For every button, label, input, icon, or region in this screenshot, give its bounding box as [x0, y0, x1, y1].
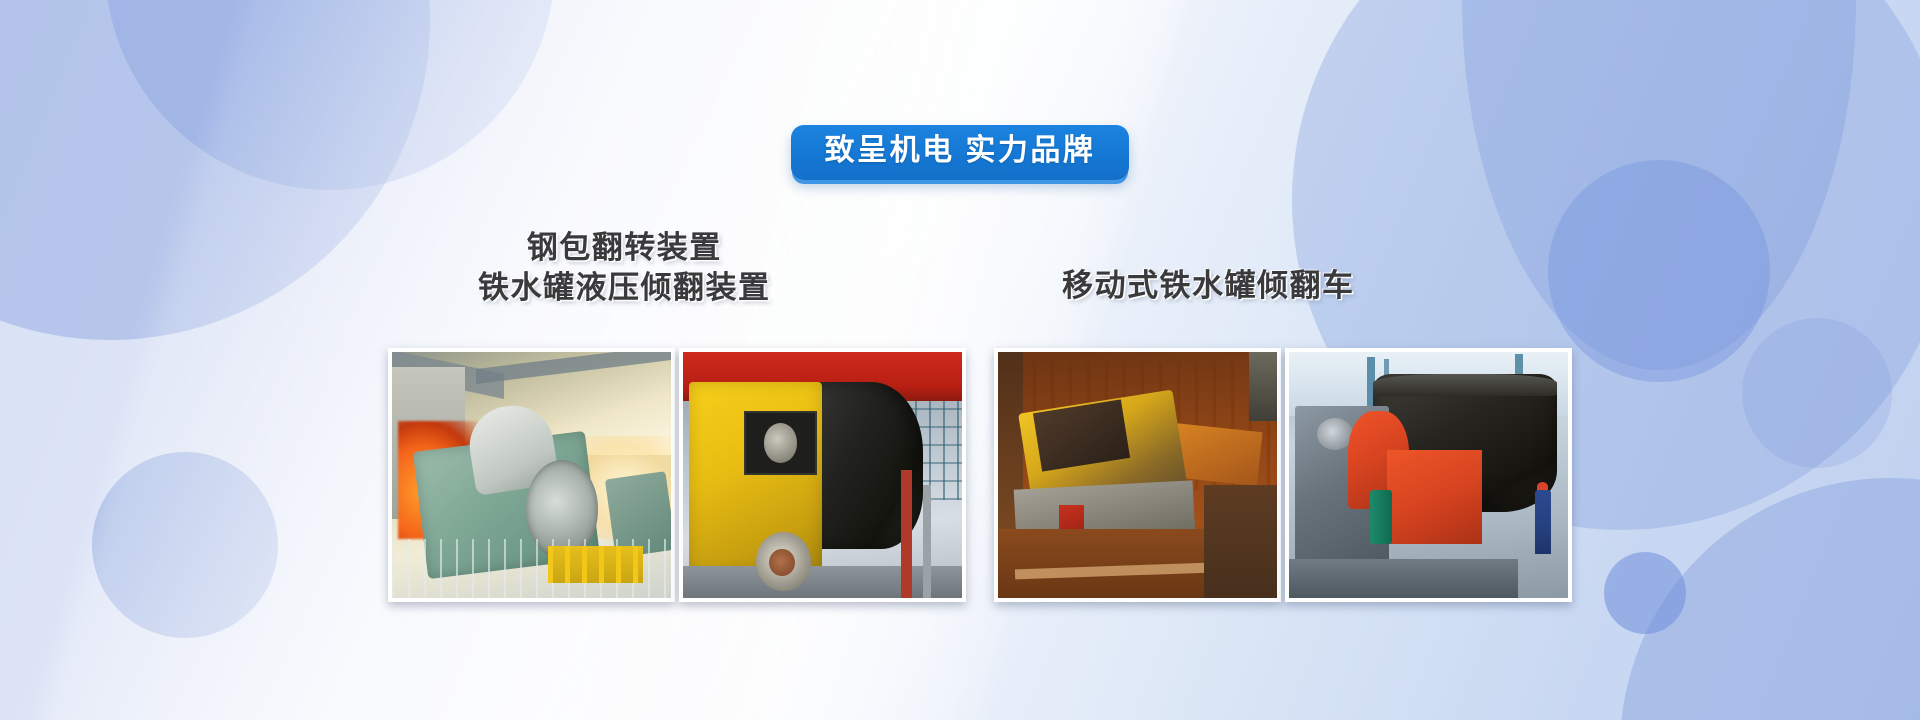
- decor-circle-left-solid: [92, 452, 278, 638]
- headline-left-line1: 钢包翻转装置: [478, 228, 771, 268]
- decor-ellipse-right-tall: [1462, 0, 1856, 370]
- product-photo-4[interactable]: [1285, 348, 1572, 602]
- headline-left-group: 钢包翻转装置 铁水罐液压倾翻装置: [478, 228, 771, 309]
- decor-circle-right-tiny: [1742, 318, 1892, 468]
- decor-circle-right-medium: [1548, 160, 1770, 382]
- hero-banner: 致呈机电 实力品牌 钢包翻转装置 铁水罐液压倾翻装置 移动式铁水罐倾翻车: [0, 0, 1920, 720]
- decor-circle-right-lower: [1620, 478, 1920, 720]
- product-photo-2-image: [683, 352, 962, 598]
- product-photo-2[interactable]: [679, 348, 966, 602]
- product-photo-1-image: [392, 352, 671, 598]
- brand-badge-label: 致呈机电 实力品牌: [825, 134, 1096, 167]
- photo-group-divider: [966, 348, 994, 602]
- headline-right-group: 移动式铁水罐倾翻车: [1062, 266, 1355, 306]
- product-photo-4-image: [1289, 352, 1568, 598]
- brand-badge: 致呈机电 实力品牌: [791, 125, 1130, 180]
- photo-group-mobile-tipping-car: [994, 348, 1572, 602]
- product-photo-strip: [388, 348, 1576, 602]
- product-photo-3[interactable]: [994, 348, 1281, 602]
- product-photo-3-image: [998, 352, 1277, 598]
- headline-right-line1: 移动式铁水罐倾翻车: [1062, 268, 1355, 303]
- badge-container: 致呈机电 实力品牌: [0, 125, 1920, 180]
- decor-circle-right-dot: [1604, 552, 1686, 634]
- product-photo-1[interactable]: [388, 348, 675, 602]
- photo-group-ladle-tipper: [388, 348, 966, 602]
- headline-left-line2: 铁水罐液压倾翻装置: [478, 268, 771, 308]
